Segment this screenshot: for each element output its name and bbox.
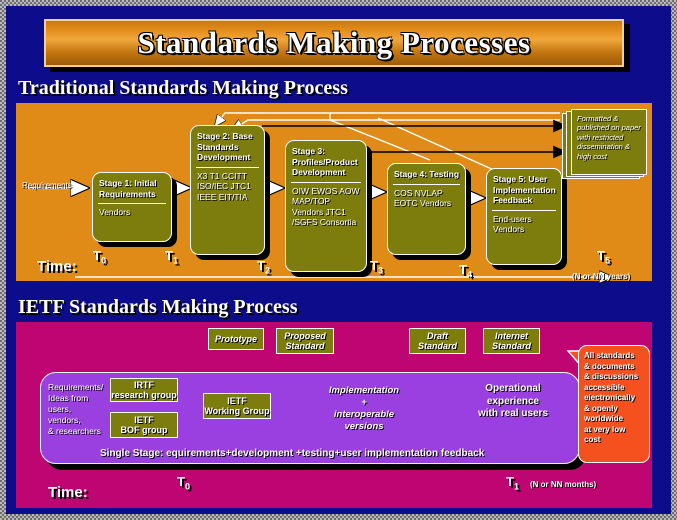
group-ietf-bof[interactable]: IETF BOF group (110, 412, 178, 438)
stage-card-1[interactable]: Stage 1: Initial Requirements Vendors (92, 172, 172, 242)
stage-card-1-header: Stage 1: Initial Requirements (93, 173, 171, 202)
time-mark-t4-sub: 4 (467, 270, 472, 280)
time-mark-t0-letter: T (93, 248, 101, 263)
time-mark-t5-sub: 5 (605, 256, 610, 266)
ietf-time-mark-t0: T0 (177, 474, 190, 492)
stage-card-5[interactable]: Stage 5: User Implementation Feedback En… (486, 168, 562, 265)
requirements-label: Requirements (22, 181, 72, 190)
time-mark-t5-letter: T (597, 248, 605, 263)
ietf-time-mark-t1-sub: 1 (514, 482, 519, 492)
stage-card-5-divider (492, 210, 556, 211)
ietf-time-mark-t0-sub: 0 (185, 482, 190, 492)
time-mark-t3-letter: T (370, 258, 378, 273)
stage-card-1-body: Vendors (93, 207, 171, 222)
section-heading-ietf: IETF Standards Making Process (18, 296, 297, 319)
stage-card-3-body: OIW EWOS AOW MAP/TOP Vendors JTC1 /SGFS … (286, 186, 366, 232)
published-output-stack: Formatted & published on paper with rest… (562, 109, 654, 181)
milestone-prototype[interactable]: Prototype (208, 328, 264, 350)
time-note-ietf: (N or NN months) (530, 480, 596, 489)
time-mark-t2: T2 (257, 258, 270, 276)
stage-card-4-body: COS NVLAP EOTC Vendors (388, 188, 465, 213)
stage-card-3[interactable]: Stage 3: Profiles/Product Development OI… (285, 140, 367, 272)
operational-experience-label: Operational experience with real users (458, 383, 568, 421)
published-output-note: Formatted & published on paper with rest… (571, 109, 647, 175)
milestone-draft-standard[interactable]: Draft Standard (409, 328, 466, 354)
time-note-traditional: (N or NN years) (572, 272, 630, 281)
ietf-time-mark-t1-letter: T (506, 474, 514, 489)
stage-card-1-divider (98, 203, 166, 204)
slide-root: Standards Making Processes Traditional S… (0, 0, 677, 520)
ietf-working-group[interactable]: IETF Working Group (203, 393, 271, 419)
stage-card-3-divider (291, 182, 361, 183)
stage-card-2[interactable]: Stage 2: Base Standards Development X3 T… (190, 125, 265, 255)
time-mark-t4-letter: T (459, 262, 467, 277)
ietf-time-mark-t0-letter: T (177, 474, 185, 489)
stage-card-2-header: Stage 2: Base Standards Development (191, 126, 264, 166)
ietf-benefits-callout: All standards & documents & discussions … (578, 345, 650, 463)
milestone-internet-standard[interactable]: Internet Standard (483, 328, 540, 354)
time-mark-t1: T1 (165, 248, 178, 266)
time-mark-t2-letter: T (257, 258, 265, 273)
stage-card-4-header: Stage 4: Testing (388, 164, 465, 183)
section-heading-traditional: Traditional Standards Making Process (18, 77, 348, 100)
implementation-label: Implementation + interoperable versions (318, 385, 410, 433)
single-stage-caption: Single Stage: equirements+development +t… (100, 448, 484, 459)
time-mark-t4: T4 (459, 262, 472, 280)
stage-card-4[interactable]: Stage 4: Testing COS NVLAP EOTC Vendors (387, 163, 466, 255)
time-mark-t3-sub: 3 (378, 266, 383, 276)
time-mark-t3: T3 (370, 258, 383, 276)
group-irtf-research[interactable]: IRTF research group (110, 378, 178, 402)
time-mark-t2-sub: 2 (265, 266, 270, 276)
time-label-ietf: Time: (48, 484, 88, 501)
stage-card-2-body: X3 T1 CCITT ISO/IEC JTC1 IEEE EIT/TIA (191, 171, 264, 207)
ietf-inputs-label: Requirements/ Ideas from users, vendors,… (48, 382, 103, 437)
time-mark-t0: T0 (93, 248, 106, 266)
ietf-time-mark-t1: T1 (506, 474, 519, 492)
stage-card-3-header: Stage 3: Profiles/Product Development (286, 141, 366, 181)
stage-card-4-divider (393, 184, 460, 185)
stage-card-5-header: Stage 5: User Implementation Feedback (487, 169, 561, 209)
time-mark-t1-letter: T (165, 248, 173, 263)
page-title: Standards Making Processes (137, 25, 530, 61)
time-mark-t1-sub: 1 (173, 256, 178, 266)
time-label-traditional: Time: (37, 258, 77, 275)
time-mark-t5: T5 (597, 248, 610, 266)
time-mark-t0-sub: 0 (101, 256, 106, 266)
stage-card-2-divider (196, 167, 259, 168)
stage-card-5-body: End-users Vendors (487, 214, 561, 239)
title-banner: Standards Making Processes (44, 19, 624, 67)
milestone-proposed-standard[interactable]: Proposed Standard (276, 328, 334, 354)
